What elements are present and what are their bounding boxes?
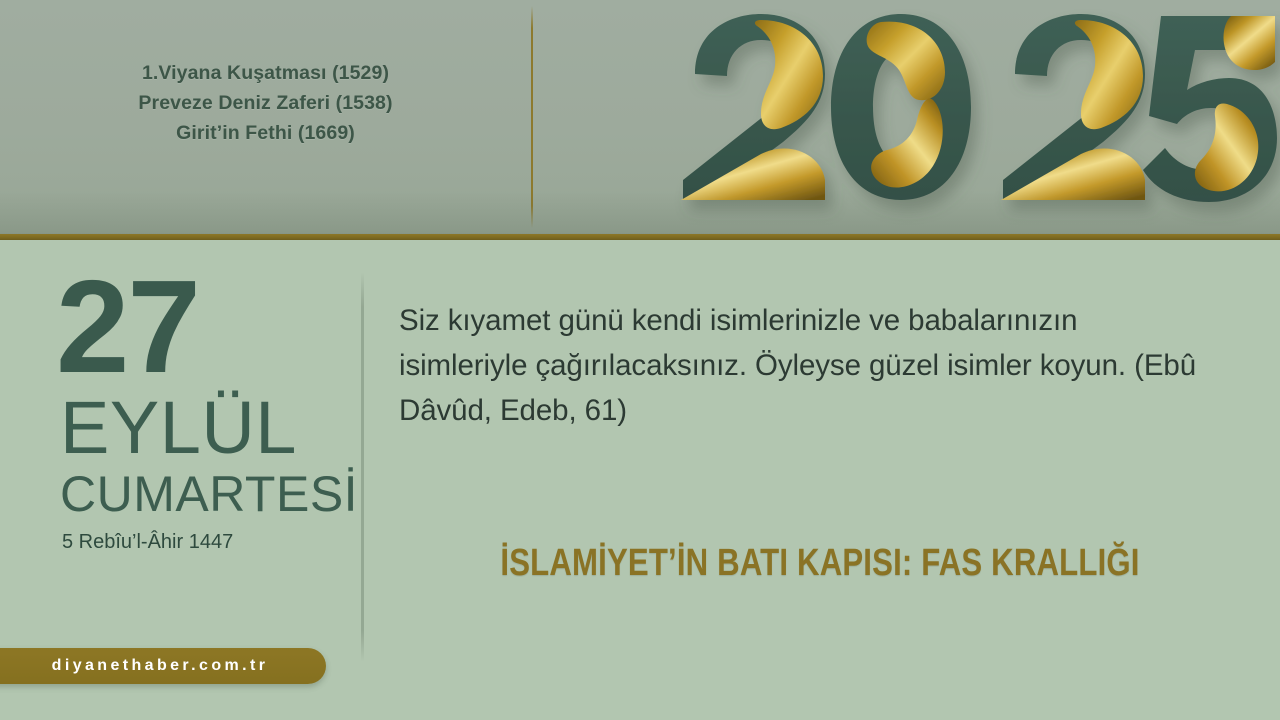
event-item-2: Preveze Deniz Zaferi (1538) [0, 88, 531, 118]
hijri-date: 5 Rebîu’l-Âhir 1447 [62, 530, 360, 554]
year-digit-5 [1143, 16, 1277, 202]
top-band: 1.Viyana Kuşatması (1529) Preveze Deniz … [0, 0, 1280, 234]
site-badge-label: diyanethaber.com.tr [0, 648, 326, 684]
hadith-quote: Siz kıyamet günü kendi isimlerinizle ve … [399, 298, 1199, 433]
article-headline: İSLAMİYET’İN BATI KAPISI: FAS KRALLIĞI [459, 540, 1181, 586]
year-digit-0 [831, 14, 971, 200]
year-digit-2b [1001, 14, 1145, 200]
calendar-page: 1.Viyana Kuşatması (1529) Preveze Deniz … [0, 0, 1280, 720]
historical-events-list: 1.Viyana Kuşatması (1529) Preveze Deniz … [0, 58, 531, 148]
event-item-3: Girit’in Fethi (1669) [0, 118, 531, 148]
bottom-vertical-divider [361, 272, 364, 662]
site-badge[interactable]: diyanethaber.com.tr [0, 648, 326, 684]
year-2025-graphic [665, 8, 1280, 226]
top-vertical-divider [531, 6, 533, 228]
date-column: 27 EYLÜL CUMARTESİ 5 Rebîu’l-Âhir 1447 [60, 268, 360, 554]
month-name: EYLÜL [60, 392, 360, 464]
day-number: 27 [56, 268, 360, 386]
event-item-1: 1.Viyana Kuşatması (1529) [0, 58, 531, 88]
year-digit-2a [681, 14, 825, 200]
weekday-name: CUMARTESİ [60, 468, 360, 520]
